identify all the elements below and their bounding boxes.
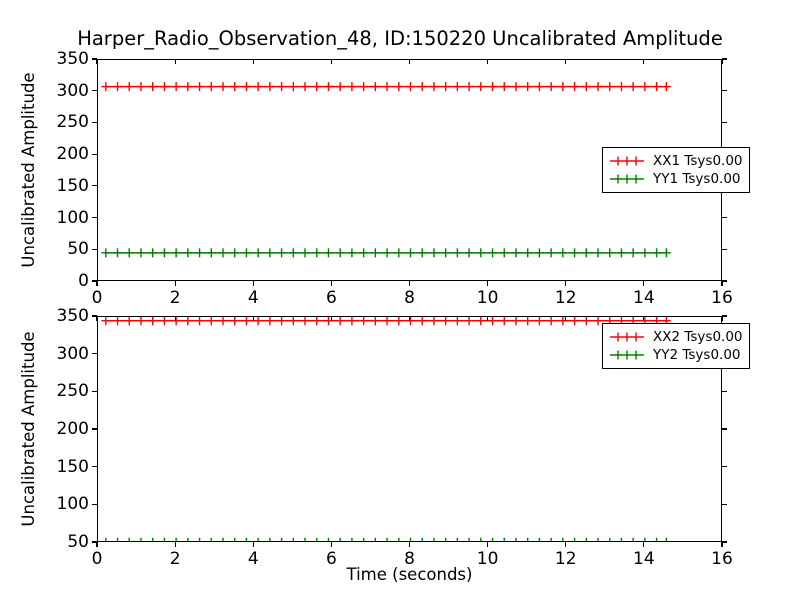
x-tick-label: 0 [92, 549, 103, 569]
x-tick [409, 542, 410, 547]
x-axis-label: Time (seconds) [347, 565, 473, 584]
legend-swatch [608, 348, 646, 362]
figure-canvas: Harper_Radio_Observation_48, ID:150220 U… [0, 0, 800, 600]
x-tick-top [175, 59, 176, 64]
series-xx [101, 82, 671, 91]
x-tick [643, 281, 644, 286]
legend-entry: XX1 Tsys0.00 [608, 152, 743, 170]
x-tick-label: 2 [170, 549, 181, 569]
x-tick [409, 281, 410, 286]
y-tick-label: 350 [31, 49, 89, 69]
x-tick [721, 542, 722, 547]
x-tick [96, 542, 97, 547]
x-tick-top [643, 59, 644, 64]
x-tick-label: 2 [170, 288, 181, 308]
x-tick [253, 542, 254, 547]
y-axis-label-top: Uncalibrated Amplitude [19, 72, 38, 267]
y-tick-label: 50 [31, 532, 89, 552]
series-yy [101, 248, 671, 257]
y-tick-right [722, 391, 727, 392]
legend-entry: XX2 Tsys0.00 [608, 328, 743, 346]
x-tick-label: 12 [555, 288, 577, 308]
x-tick-top [253, 59, 254, 64]
y-tick-right [722, 315, 727, 316]
x-tick-top [643, 316, 644, 321]
y-tick-label: 100 [31, 494, 89, 514]
x-tick-top [721, 59, 722, 64]
x-tick-top [487, 59, 488, 64]
y-tick-right [722, 90, 727, 91]
y-tick-right [722, 504, 727, 505]
y-tick [92, 428, 97, 429]
y-tick [92, 249, 97, 250]
x-tick-label: 16 [711, 288, 733, 308]
y-tick-label: 300 [31, 344, 89, 364]
x-tick [565, 281, 566, 286]
y-tick-right [722, 280, 727, 281]
y-tick [92, 122, 97, 123]
x-tick [643, 542, 644, 547]
x-tick-label: 6 [326, 549, 337, 569]
x-tick-top [487, 316, 488, 321]
x-tick-label: 12 [555, 549, 577, 569]
legend-entry: YY2 Tsys0.00 [608, 346, 743, 364]
legend-swatch [608, 172, 646, 186]
legend-swatch [608, 330, 646, 344]
legend-swatch [608, 154, 646, 168]
x-tick-label: 4 [248, 549, 259, 569]
x-tick [565, 542, 566, 547]
legend-label: XX1 Tsys0.00 [653, 153, 743, 169]
legend-label: XX2 Tsys0.00 [653, 329, 743, 345]
x-tick-top [565, 316, 566, 321]
x-tick [175, 281, 176, 286]
y-tick [92, 391, 97, 392]
y-tick-label: 50 [31, 239, 89, 259]
page-title: Harper_Radio_Observation_48, ID:150220 U… [0, 27, 800, 50]
x-tick [487, 542, 488, 547]
x-tick-label: 14 [633, 549, 655, 569]
x-tick [487, 281, 488, 286]
legend-bottom: XX2 Tsys0.00YY2 Tsys0.00 [602, 323, 750, 369]
y-tick-label: 200 [31, 419, 89, 439]
x-tick [96, 281, 97, 286]
y-tick-label: 350 [31, 306, 89, 326]
y-tick-label: 150 [31, 457, 89, 477]
series-yy [101, 538, 671, 541]
x-tick [721, 281, 722, 286]
y-tick-right [722, 122, 727, 123]
y-tick [92, 217, 97, 218]
legend-entry: YY1 Tsys0.00 [608, 170, 743, 188]
x-tick-label: 4 [248, 288, 259, 308]
x-tick-top [331, 59, 332, 64]
x-tick [253, 281, 254, 286]
x-tick-top [409, 316, 410, 321]
y-tick [92, 90, 97, 91]
series-xx [101, 317, 671, 325]
y-tick [92, 280, 97, 281]
y-tick-label: 150 [31, 176, 89, 196]
y-tick [92, 185, 97, 186]
y-tick-label: 100 [31, 208, 89, 228]
y-tick-right [722, 541, 727, 542]
x-tick [331, 281, 332, 286]
y-tick [92, 466, 97, 467]
x-tick-top [175, 316, 176, 321]
x-tick-top [721, 316, 722, 321]
y-tick-right [722, 466, 727, 467]
y-tick [92, 315, 97, 316]
x-tick-label: 14 [633, 288, 655, 308]
y-tick [92, 154, 97, 155]
x-tick-label: 0 [92, 288, 103, 308]
y-tick [92, 58, 97, 59]
y-tick-right [722, 249, 727, 250]
x-tick-top [331, 316, 332, 321]
x-tick-top [96, 316, 97, 321]
legend-label: YY2 Tsys0.00 [653, 347, 741, 363]
x-tick [175, 542, 176, 547]
y-tick-label: 200 [31, 144, 89, 164]
x-tick-top [96, 59, 97, 64]
legend-label: YY1 Tsys0.00 [653, 171, 741, 187]
y-tick-right [722, 58, 727, 59]
y-tick [92, 504, 97, 505]
y-tick [92, 353, 97, 354]
y-tick-label: 300 [31, 81, 89, 101]
y-tick-label: 250 [31, 381, 89, 401]
y-axis-label-bottom: Uncalibrated Amplitude [19, 331, 38, 526]
x-tick-top [253, 316, 254, 321]
y-tick-label: 0 [31, 271, 89, 291]
x-tick-label: 16 [711, 549, 733, 569]
y-tick-label: 250 [31, 112, 89, 132]
legend-top: XX1 Tsys0.00YY1 Tsys0.00 [602, 147, 750, 193]
x-tick [331, 542, 332, 547]
y-tick-right [722, 217, 727, 218]
x-tick-top [409, 59, 410, 64]
x-tick-label: 8 [404, 288, 415, 308]
y-tick [92, 541, 97, 542]
x-tick-label: 6 [326, 288, 337, 308]
x-tick-label: 10 [477, 549, 499, 569]
y-tick-right [722, 428, 727, 429]
x-tick-label: 10 [477, 288, 499, 308]
x-tick-top [565, 59, 566, 64]
